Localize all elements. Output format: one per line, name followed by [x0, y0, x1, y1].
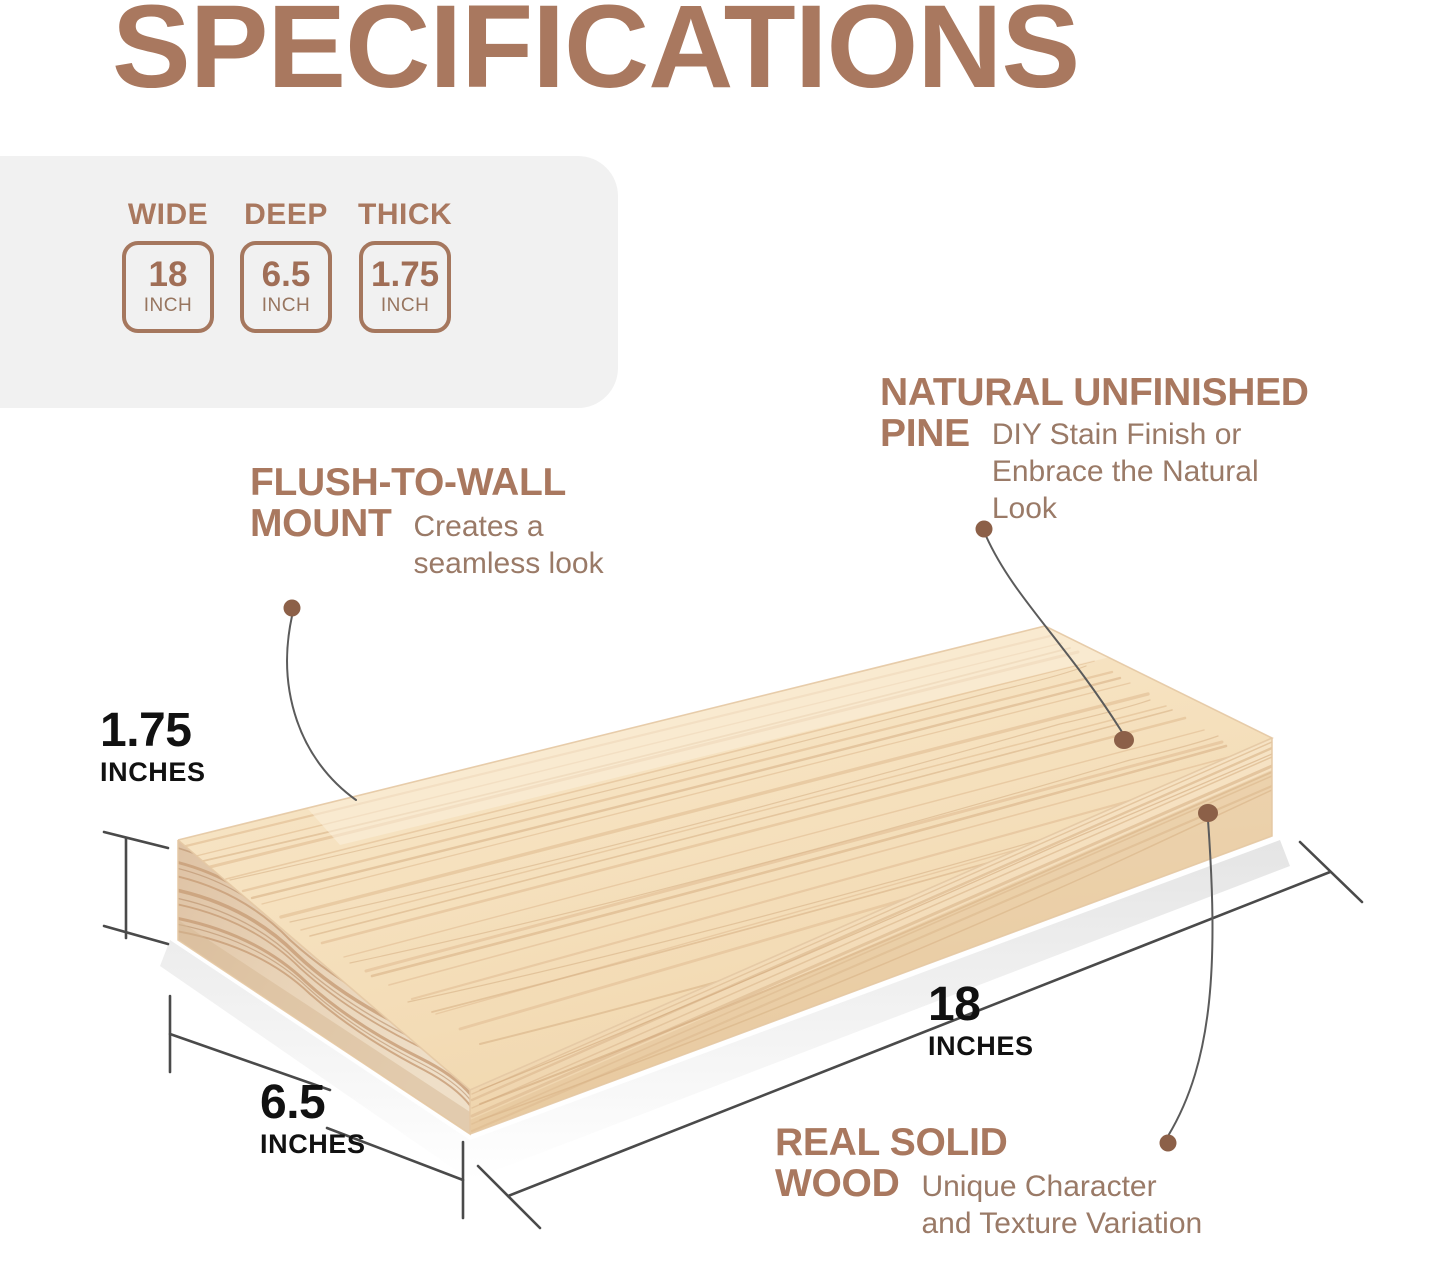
spec-unit-deep: INCH: [262, 295, 310, 317]
feature-wood-heading-line2: WOOD: [775, 1163, 899, 1204]
spec-label-wide: WIDE: [128, 198, 208, 232]
callout-dot-top-face: [1114, 731, 1134, 749]
spec-item-thick: THICK 1.75 INCH: [358, 198, 452, 333]
callout-dot-flush: [284, 600, 301, 617]
spec-item-deep: DEEP 6.5 INCH: [240, 198, 332, 333]
feature-flush-heading-line2: MOUNT: [250, 503, 391, 544]
feature-flush-sub-line1: Creates a: [413, 509, 603, 546]
spec-item-wide: WIDE 18 INCH: [122, 198, 214, 333]
spec-label-thick: THICK: [358, 198, 452, 232]
spec-value-thick: 1.75: [371, 257, 439, 292]
spec-box-thick: 1.75 INCH: [359, 241, 451, 333]
feature-flush-sub-line2: seamless look: [413, 546, 603, 583]
dimension-label-thickness: 1.75 INCHES: [100, 708, 206, 788]
dimension-label-depth: 6.5 INCHES: [260, 1080, 366, 1160]
spec-box-wide: 18 INCH: [122, 241, 214, 333]
dimension-depth-value: 6.5: [260, 1080, 366, 1126]
feature-natural-unfinished-pine: NATURAL UNFINISHED PINE DIY Stain Finish…: [880, 372, 1440, 527]
dimension-width-value: 18: [928, 982, 1034, 1028]
feature-pine-heading-line1: NATURAL UNFINISHED: [880, 372, 1440, 413]
feature-pine-sub-line1: DIY Stain Finish or: [992, 417, 1259, 454]
feature-flush-heading-line1: FLUSH-TO-WALL: [250, 462, 770, 503]
feature-flush-to-wall-mount: FLUSH-TO-WALL MOUNT Creates a seamless l…: [250, 462, 770, 583]
spec-panel: WIDE 18 INCH DEEP 6.5 INCH THICK 1.75 IN…: [0, 156, 618, 408]
dimension-thickness-value: 1.75: [100, 708, 206, 754]
dimension-label-width: 18 INCHES: [928, 982, 1034, 1062]
page-title: SPECIFICATIONS: [112, 0, 1079, 110]
feature-wood-sub-line1: Unique Character: [921, 1169, 1202, 1206]
feature-real-solid-wood: REAL SOLID WOOD Unique Character and Tex…: [775, 1122, 1435, 1243]
feature-wood-sub-line2: and Texture Variation: [921, 1206, 1202, 1243]
dimension-depth-unit: INCHES: [260, 1129, 366, 1160]
spec-row: WIDE 18 INCH DEEP 6.5 INCH THICK 1.75 IN…: [122, 198, 452, 333]
feature-pine-heading-line2: PINE: [880, 413, 970, 454]
feature-pine-sub-line2: Enbrace the Natural: [992, 454, 1259, 491]
dimension-width-unit: INCHES: [928, 1031, 1034, 1062]
dimension-thickness-unit: INCHES: [100, 757, 206, 788]
spec-label-deep: DEEP: [244, 198, 328, 232]
spec-unit-thick: INCH: [381, 295, 429, 317]
feature-wood-heading-line1: REAL SOLID: [775, 1122, 1435, 1163]
callout-dot-front-face: [1198, 804, 1218, 822]
spec-value-deep: 6.5: [262, 257, 311, 292]
spec-unit-wide: INCH: [144, 295, 192, 317]
spec-box-deep: 6.5 INCH: [240, 241, 332, 333]
spec-value-wide: 18: [149, 257, 188, 292]
feature-pine-sub-line3: Look: [992, 491, 1259, 528]
